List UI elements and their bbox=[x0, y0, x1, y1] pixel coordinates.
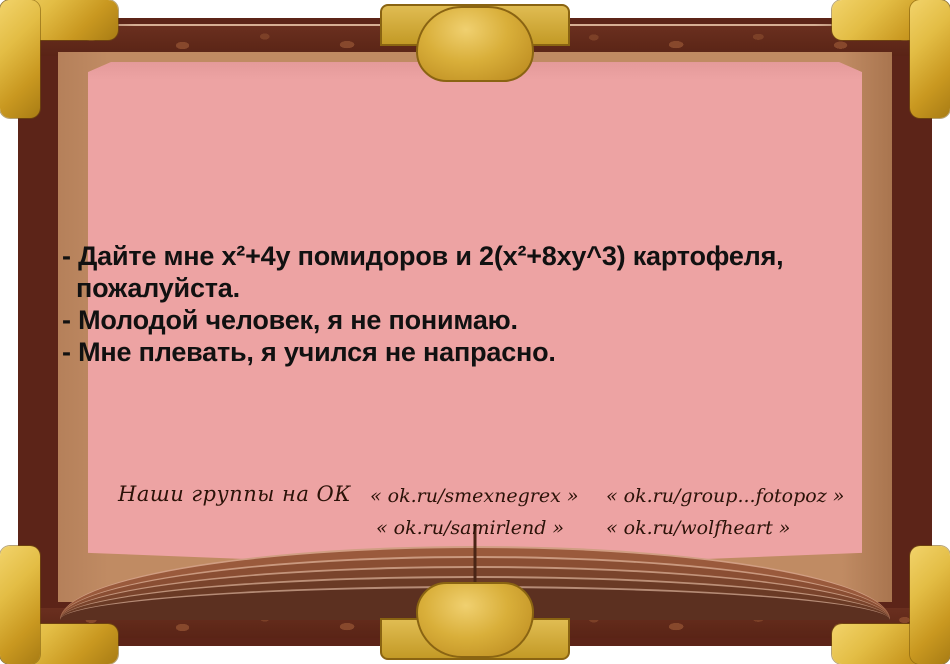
corner-arm-vertical bbox=[910, 0, 950, 118]
corner-arm-vertical bbox=[910, 546, 950, 664]
joke-line-1: - Дайте мне x²+4y помидоров и 2(x²+8xy^3… bbox=[62, 240, 920, 272]
group-link-samirlend[interactable]: « ok.ru/samirlend » bbox=[376, 517, 564, 539]
corner-arm-vertical bbox=[0, 0, 40, 118]
credits-block: Наши группы на ОК « ok.ru/smexnegrex » «… bbox=[88, 476, 862, 568]
corner-arm-vertical bbox=[0, 546, 40, 664]
meme-image: - Дайте мне x²+4y помидоров и 2(x²+8xy^3… bbox=[0, 0, 950, 664]
top-center-dome-icon bbox=[416, 6, 534, 82]
group-link-wolfheart[interactable]: « ok.ru/wolfheart » bbox=[606, 517, 790, 539]
joke-text-block: - Дайте мне x²+4y помидоров и 2(x²+8xy^3… bbox=[62, 240, 920, 369]
credits-label: Наши группы на ОК bbox=[118, 482, 351, 506]
corner-bracket-top-right bbox=[832, 0, 950, 118]
joke-line-2: пожалуйста. bbox=[62, 272, 920, 304]
corner-bracket-top-left bbox=[0, 0, 118, 118]
corner-bracket-bottom-left bbox=[0, 546, 118, 664]
joke-line-3: - Молодой человек, я не понимаю. bbox=[62, 304, 920, 336]
group-link-smexnegrex[interactable]: « ok.ru/smexnegrex » bbox=[370, 485, 578, 507]
joke-line-4: - Мне плевать, я учился не напрасно. bbox=[62, 336, 920, 368]
corner-bracket-bottom-right bbox=[832, 546, 950, 664]
group-link-fotopoz[interactable]: « ok.ru/group...fotopoz » bbox=[606, 485, 844, 507]
bottom-center-dome-icon bbox=[416, 582, 534, 658]
